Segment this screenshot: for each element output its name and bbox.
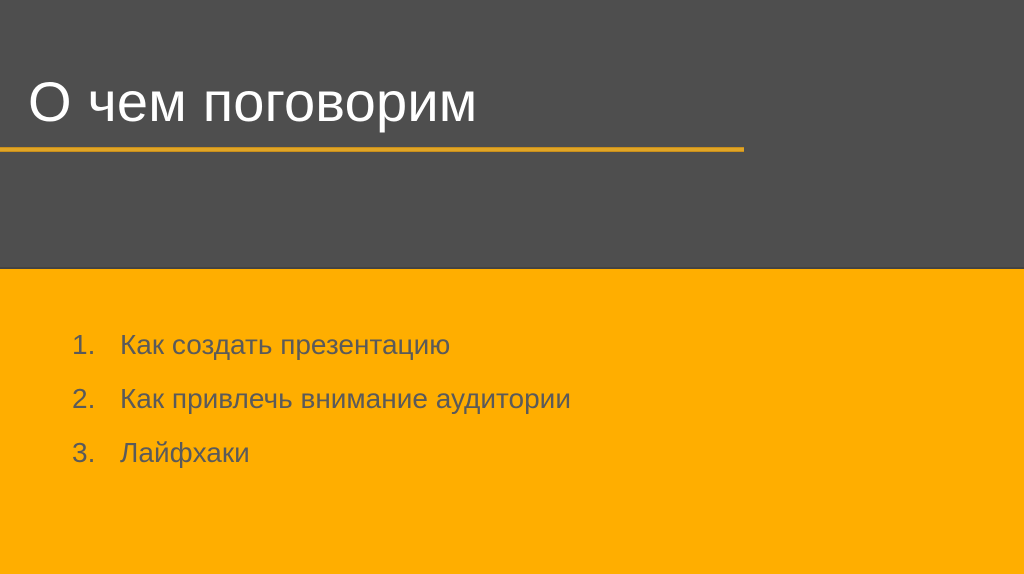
- slide-header-band: О чем поговорим: [0, 0, 1024, 269]
- list-item-number: 1.: [72, 328, 120, 362]
- slide-body-area: 1. Как создать презентацию 2. Как привле…: [0, 269, 1024, 574]
- list-item-label: Как привлечь внимание аудитории: [120, 382, 571, 416]
- presentation-slide: О чем поговорим 1. Как создать презентац…: [0, 0, 1024, 574]
- title-underline-rule: [0, 147, 744, 152]
- list-item-label: Лайфхаки: [120, 436, 250, 470]
- list-item: 3. Лайфхаки: [72, 436, 571, 490]
- slide-title: О чем поговорим: [28, 68, 968, 136]
- list-item-number: 2.: [72, 382, 120, 416]
- list-item-number: 3.: [72, 436, 120, 470]
- agenda-list: 1. Как создать презентацию 2. Как привле…: [72, 328, 571, 490]
- list-item-label: Как создать презентацию: [120, 328, 450, 362]
- list-item: 2. Как привлечь внимание аудитории: [72, 382, 571, 436]
- list-item: 1. Как создать презентацию: [72, 328, 571, 382]
